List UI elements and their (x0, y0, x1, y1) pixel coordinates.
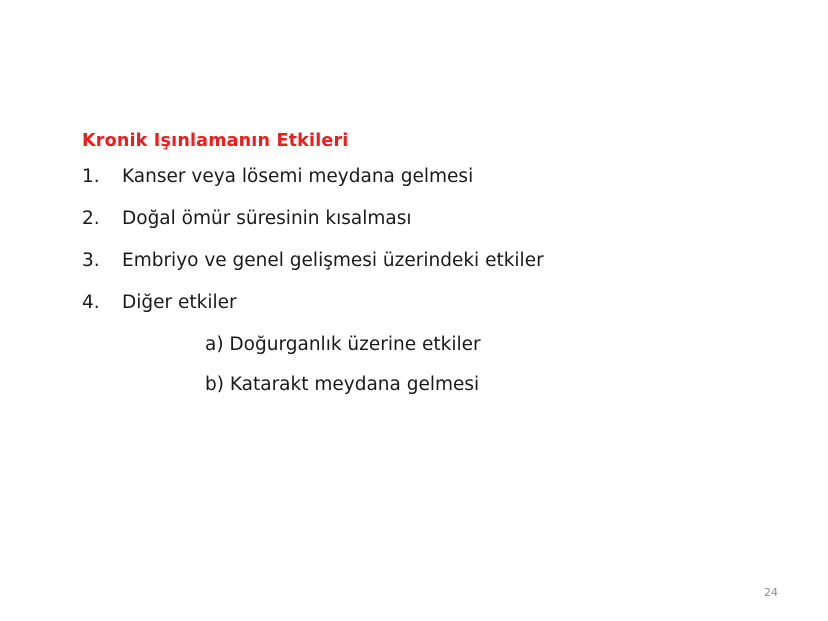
list-item: 2. Doğal ömür süresinin kısalması (82, 207, 742, 231)
list-item-label: Doğal ömür süresinin kısalması (122, 207, 412, 231)
list-item-label: Diğer etkiler (122, 291, 237, 315)
list-item: 4. Diğer etkiler (82, 291, 742, 315)
list-item-marker: 4. (82, 291, 122, 315)
list-item: 1. Kanser veya lösemi meydana gelmesi (82, 165, 742, 189)
page-number: 24 (764, 586, 778, 599)
list-item-label: Kanser veya lösemi meydana gelmesi (122, 165, 473, 189)
list-item-marker: 1. (82, 165, 122, 189)
list-item: 3. Embriyo ve genel gelişmesi üzerindeki… (82, 249, 742, 273)
sublist-item: b) Katarakt meydana gelmesi (205, 373, 742, 397)
list-item-marker: 2. (82, 207, 122, 231)
slide: Kronik Işınlamanın Etkileri 1. Kanser ve… (0, 0, 828, 621)
slide-content: Kronik Işınlamanın Etkileri 1. Kanser ve… (82, 131, 742, 413)
effects-list: 1. Kanser veya lösemi meydana gelmesi 2.… (82, 165, 742, 315)
list-item-marker: 3. (82, 249, 122, 273)
other-effects-sublist: a) Doğurganlık üzerine etkiler b) Katara… (82, 333, 742, 397)
sublist-item: a) Doğurganlık üzerine etkiler (205, 333, 742, 357)
list-item-label: Embriyo ve genel gelişmesi üzerindeki et… (122, 249, 544, 273)
page-title: Kronik Işınlamanın Etkileri (82, 131, 742, 151)
